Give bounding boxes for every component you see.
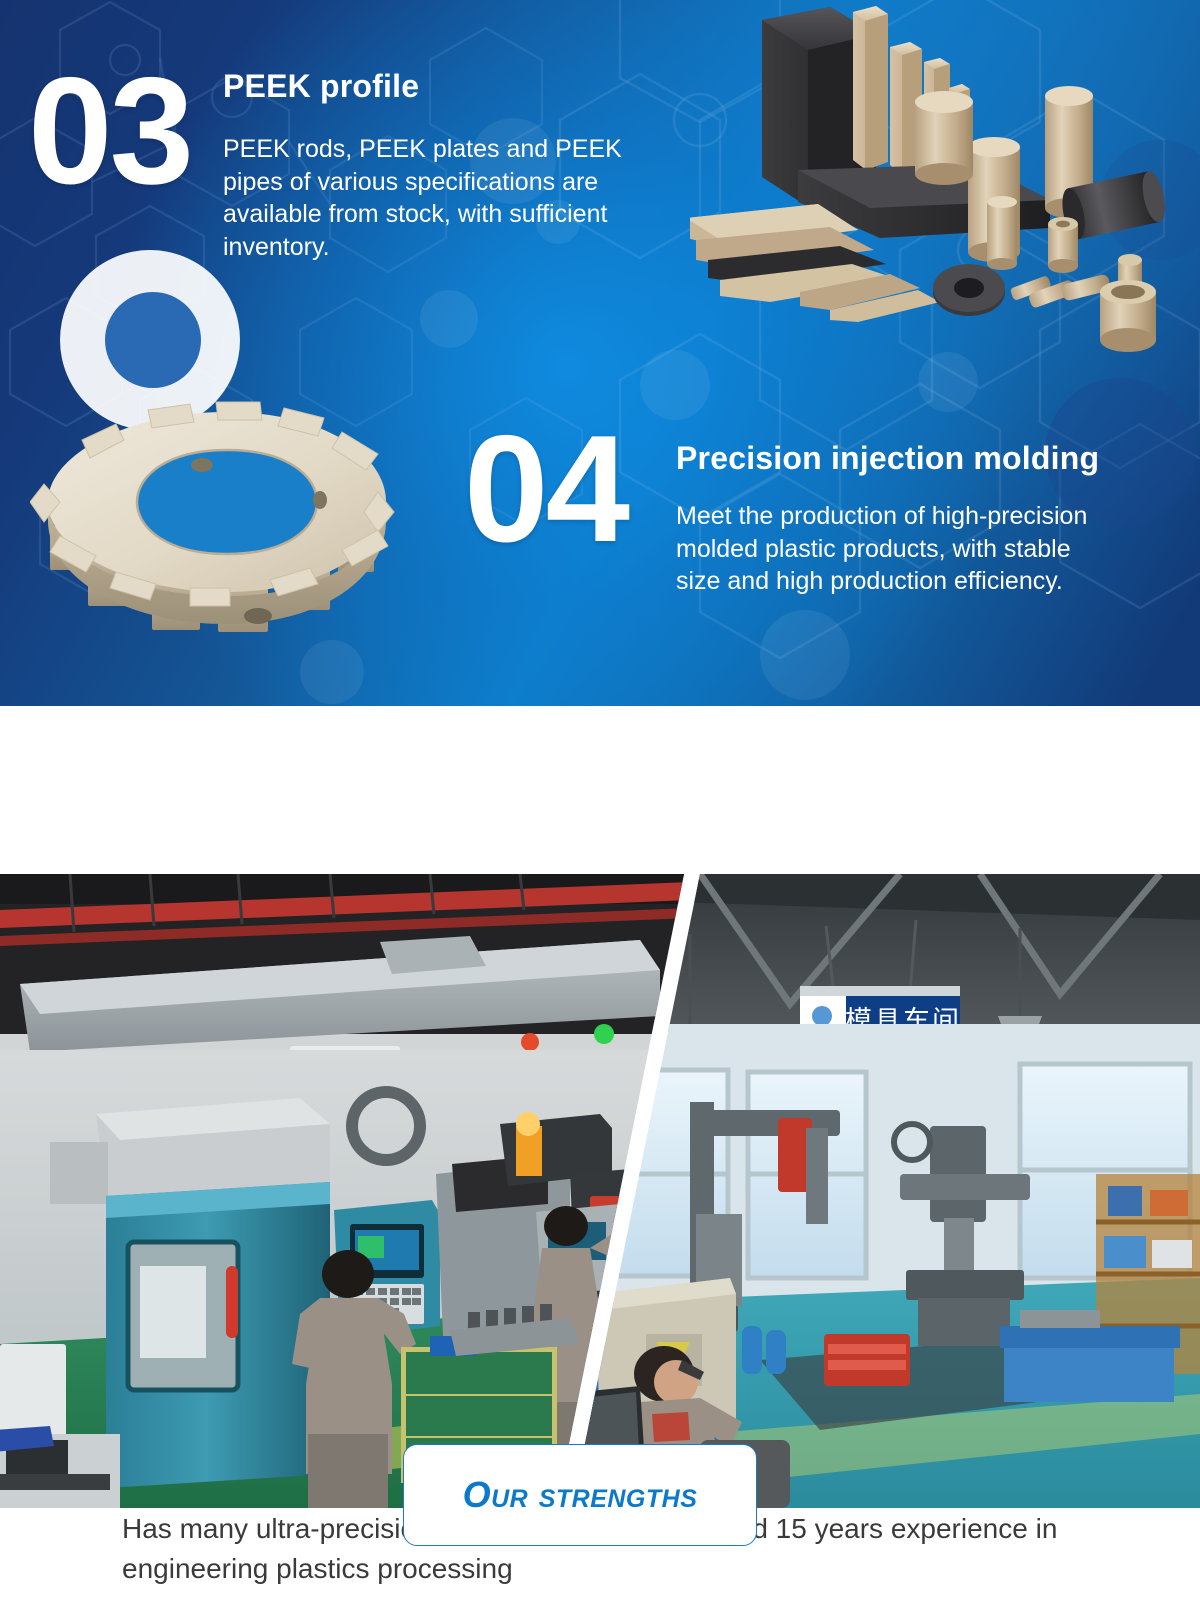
item-number-03: 03 bbox=[28, 66, 191, 197]
cnc-workshop-photo bbox=[0, 874, 690, 1508]
item-number-04: 04 bbox=[464, 424, 627, 555]
item-title-03: PEEK profile bbox=[223, 68, 419, 105]
our-strengths-badge: Our strengths bbox=[403, 1444, 757, 1546]
our-strengths-label: Our strengths bbox=[463, 1474, 698, 1516]
item-body-04: Meet the production of high-precision mo… bbox=[676, 500, 1116, 598]
peek-stock-shapes-photo bbox=[690, 0, 1200, 342]
peek-gear-ring-photo bbox=[30, 380, 430, 660]
item-body-03: PEEK rods, PEEK plates and PEEK pipes of… bbox=[223, 133, 653, 263]
item-title-04: Precision injection molding bbox=[676, 440, 1099, 477]
factory-photo-band: 南京西普 模具车间 Mold Workshop bbox=[0, 874, 1200, 1508]
strengths-banner: Our strengths bbox=[0, 706, 1200, 874]
hero-section: 03 PEEK profile PEEK rods, PEEK plates a… bbox=[0, 0, 1200, 706]
